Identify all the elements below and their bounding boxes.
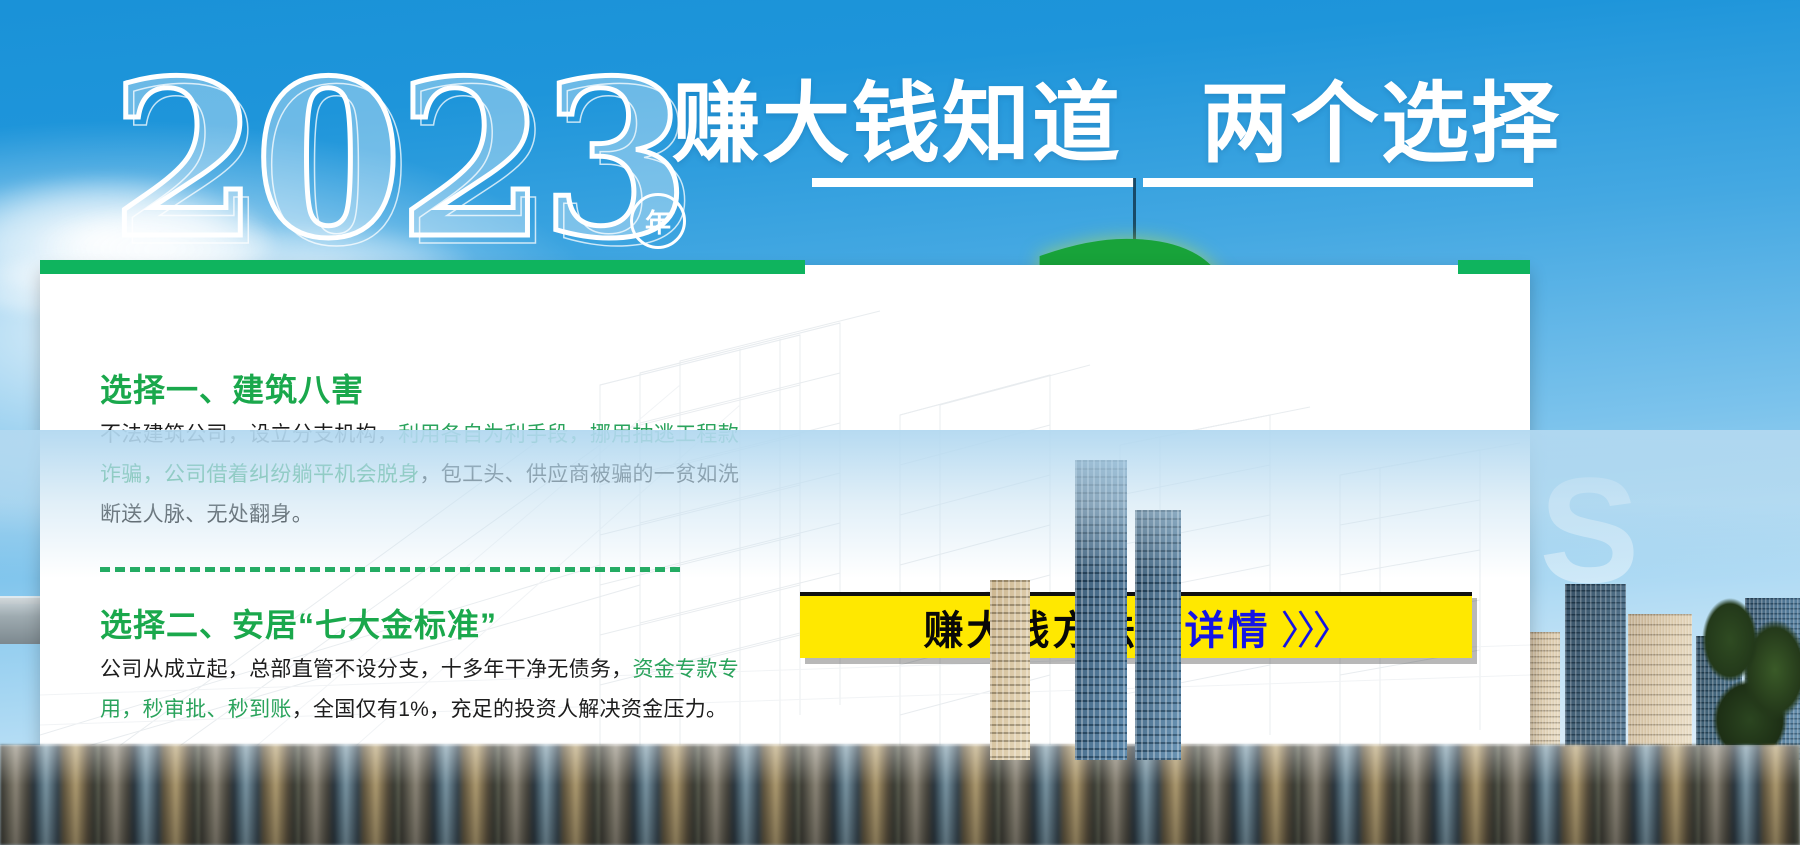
body-line: 用，秒审批、秒到账，全国仅有1%，充足的投资人解决资金压力。 (100, 690, 800, 730)
body-line: 公司从成立起，总部直管不设分支，十多年干净无债务，资金专款专 (100, 650, 800, 690)
building-windows (1075, 460, 1127, 760)
landmark-tower (990, 580, 1030, 760)
page-title: 赚大钱知道 两个选择 (672, 78, 1561, 170)
cta-link-label[interactable]: 详情 (1185, 598, 1271, 656)
poster-canvas: TWO CHOICES 2023 2023 年 赚大钱知道 两个选择 ? (0, 0, 1800, 845)
section-title-choice-two: 选择二、安居“七大金标准” (100, 600, 800, 646)
headline-part-1: 赚大钱知道 (672, 74, 1122, 173)
year-unit-badge: 年 (630, 193, 686, 249)
section-title-choice-one: 选择一、建筑八害 (100, 365, 800, 411)
building-windows (1628, 614, 1692, 760)
body-text: 断送人脉、无处翻身。 (100, 503, 313, 526)
body-text: 公司从成立起，总部直管不设分支，十多年干净无债务， (100, 658, 633, 681)
chevron-right-triple-icon: 〉〉〉 (1281, 598, 1349, 656)
headline-part-2: 两个选择 (1201, 74, 1561, 173)
body-text-highlight: 资金专款专 (633, 658, 740, 681)
body-text-highlight: 利用各自为利手段，挪用抽逃工程款 (398, 423, 739, 446)
body-line: 断送人脉、无处翻身。 (100, 495, 800, 535)
body-line: 诈骗，公司借着纠纷躺平机会脱身，包工头、供应商被骗的一贫如洗 (100, 455, 800, 495)
body-text: ，包工头、供应商被骗的一贫如洗 (420, 463, 740, 486)
year-2023-inner-outline: 2023 (118, 60, 692, 275)
body-text: 不法建筑公司，设立分支机构， (100, 423, 398, 446)
section-body-choice-two: 公司从成立起，总部直管不设分支，十多年干净无债务，资金专款专用，秒审批、秒到账，… (100, 650, 800, 730)
tree-foliage (1700, 560, 1800, 760)
body-text: ，全国仅有1%，充足的投资人解决资金压力。 (292, 698, 728, 721)
landmark-tower (1135, 510, 1181, 760)
reflection-shading (0, 745, 1800, 845)
building-windows (990, 580, 1030, 760)
body-text-highlight: 诈骗，公司借着纠纷躺平机会脱身 (100, 463, 420, 486)
section-divider (100, 567, 680, 572)
section-body-choice-one: 不法建筑公司，设立分支机构，利用各自为利手段，挪用抽逃工程款诈骗，公司借着纠纷躺… (100, 415, 800, 535)
building-windows (1135, 510, 1181, 760)
body-text-highlight: 用，秒审批、秒到账 (100, 698, 292, 721)
body-line: 不法建筑公司，设立分支机构，利用各自为利手段，挪用抽逃工程款 (100, 415, 800, 455)
building (1628, 614, 1692, 760)
panel-accent-bar-left (40, 260, 805, 274)
landmark-tower (1075, 460, 1127, 760)
